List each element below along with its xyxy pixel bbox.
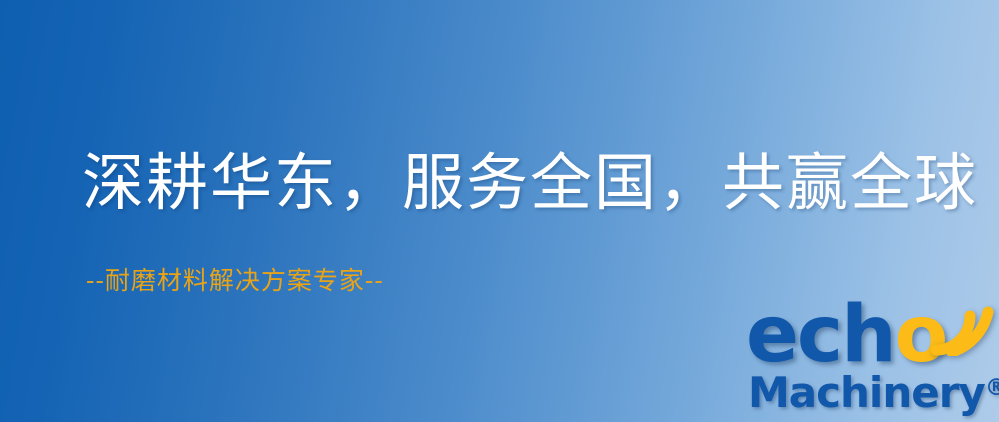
promo-banner: 深耕华东，服务全国，共赢全球 --耐磨材料解决方案专家-- echo Machi… <box>0 0 999 422</box>
echo-signal-arcs-icon <box>926 294 994 356</box>
logo-subword-text: Machinery <box>748 368 985 417</box>
banner-subtitle: --耐磨材料解决方案专家-- <box>86 268 384 293</box>
logo-wordmark-prefix: ech <box>746 290 895 380</box>
logo-subword: Machinery® <box>748 372 999 414</box>
banner-headline: 深耕华东，服务全国，共赢全球 <box>82 152 978 214</box>
echo-machinery-logo[interactable]: echo Machinery® <box>744 296 996 422</box>
registered-trademark-icon: ® <box>985 375 999 401</box>
logo-wordmark: echo <box>746 296 946 374</box>
